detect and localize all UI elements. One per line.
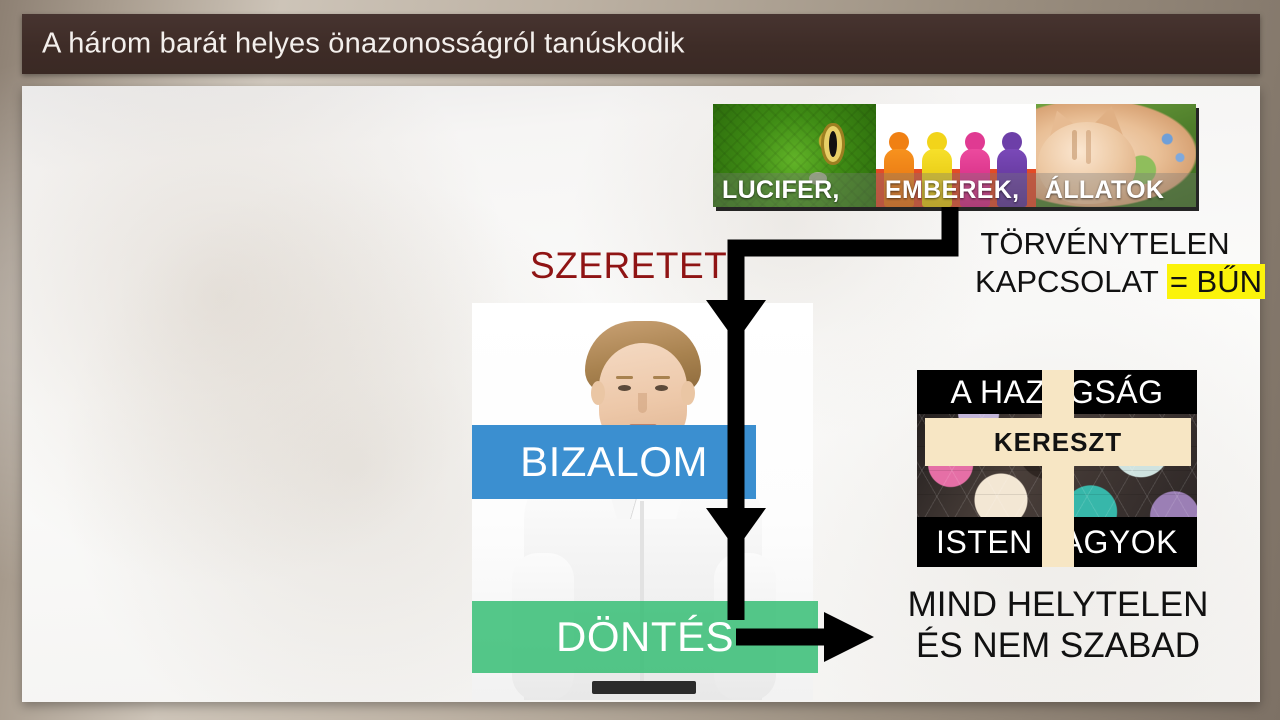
kitten-stripe bbox=[1086, 130, 1091, 164]
kitten-stripe bbox=[1072, 130, 1077, 160]
cross-vertical-beam-icon bbox=[1042, 370, 1074, 567]
eyebrow-right bbox=[653, 376, 670, 379]
eye-right bbox=[655, 385, 668, 391]
kapcsolat-word: KAPCSOLAT bbox=[975, 264, 1167, 299]
bun-highlight: = BŰN bbox=[1167, 264, 1265, 299]
kereszt-label: KERESZT bbox=[925, 418, 1191, 466]
allatok-kitten-image: ÁLLATOK bbox=[1036, 104, 1196, 207]
verdict-text: MIND HELYTELEN ÉS NEM SZABAD bbox=[900, 585, 1216, 666]
snake-eye-icon bbox=[829, 131, 837, 157]
dontes-label: DÖNTÉS bbox=[556, 613, 734, 661]
slide: A három barát helyes önazonosságról tanú… bbox=[0, 0, 1280, 720]
source-image-strip: LUCIFER, EMBEREK, ÁLLATOK bbox=[713, 104, 1196, 207]
belt bbox=[592, 681, 696, 694]
slide-title-bar: A három barát helyes önazonosságról tanú… bbox=[22, 14, 1260, 74]
allatok-caption: ÁLLATOK bbox=[1036, 173, 1196, 207]
verdict-line1: MIND HELYTELEN bbox=[900, 585, 1216, 626]
bizalom-band: BIZALOM bbox=[472, 425, 756, 499]
lucifer-caption: LUCIFER, bbox=[713, 173, 876, 207]
eyebrow-left bbox=[616, 376, 633, 379]
verdict-line2: ÉS NEM SZABAD bbox=[900, 626, 1216, 667]
eye-left bbox=[618, 385, 631, 391]
emberek-people-image: EMBEREK, bbox=[876, 104, 1036, 207]
dontes-band: DÖNTÉS bbox=[472, 601, 818, 673]
nose bbox=[638, 393, 647, 413]
torvenytelen-kapcsolat-text: TÖRVÉNYTELEN KAPCSOLAT = BŰN bbox=[975, 225, 1235, 301]
ear-right bbox=[681, 381, 695, 405]
szeretet-label: SZERETET bbox=[530, 245, 727, 287]
torvenytelen-line2: KAPCSOLAT = BŰN bbox=[975, 263, 1235, 301]
bizalom-label: BIZALOM bbox=[520, 438, 708, 486]
torvenytelen-line1: TÖRVÉNYTELEN bbox=[975, 225, 1235, 263]
lucifer-snake-image: LUCIFER, bbox=[713, 104, 876, 207]
ear-left bbox=[591, 381, 605, 405]
page-title: A három barát helyes önazonosságról tanú… bbox=[42, 28, 685, 61]
cross-image: A HAZUGSÁG ISTEN VAGYOK KERESZT bbox=[917, 370, 1197, 567]
emberek-caption: EMBEREK, bbox=[876, 173, 1036, 207]
